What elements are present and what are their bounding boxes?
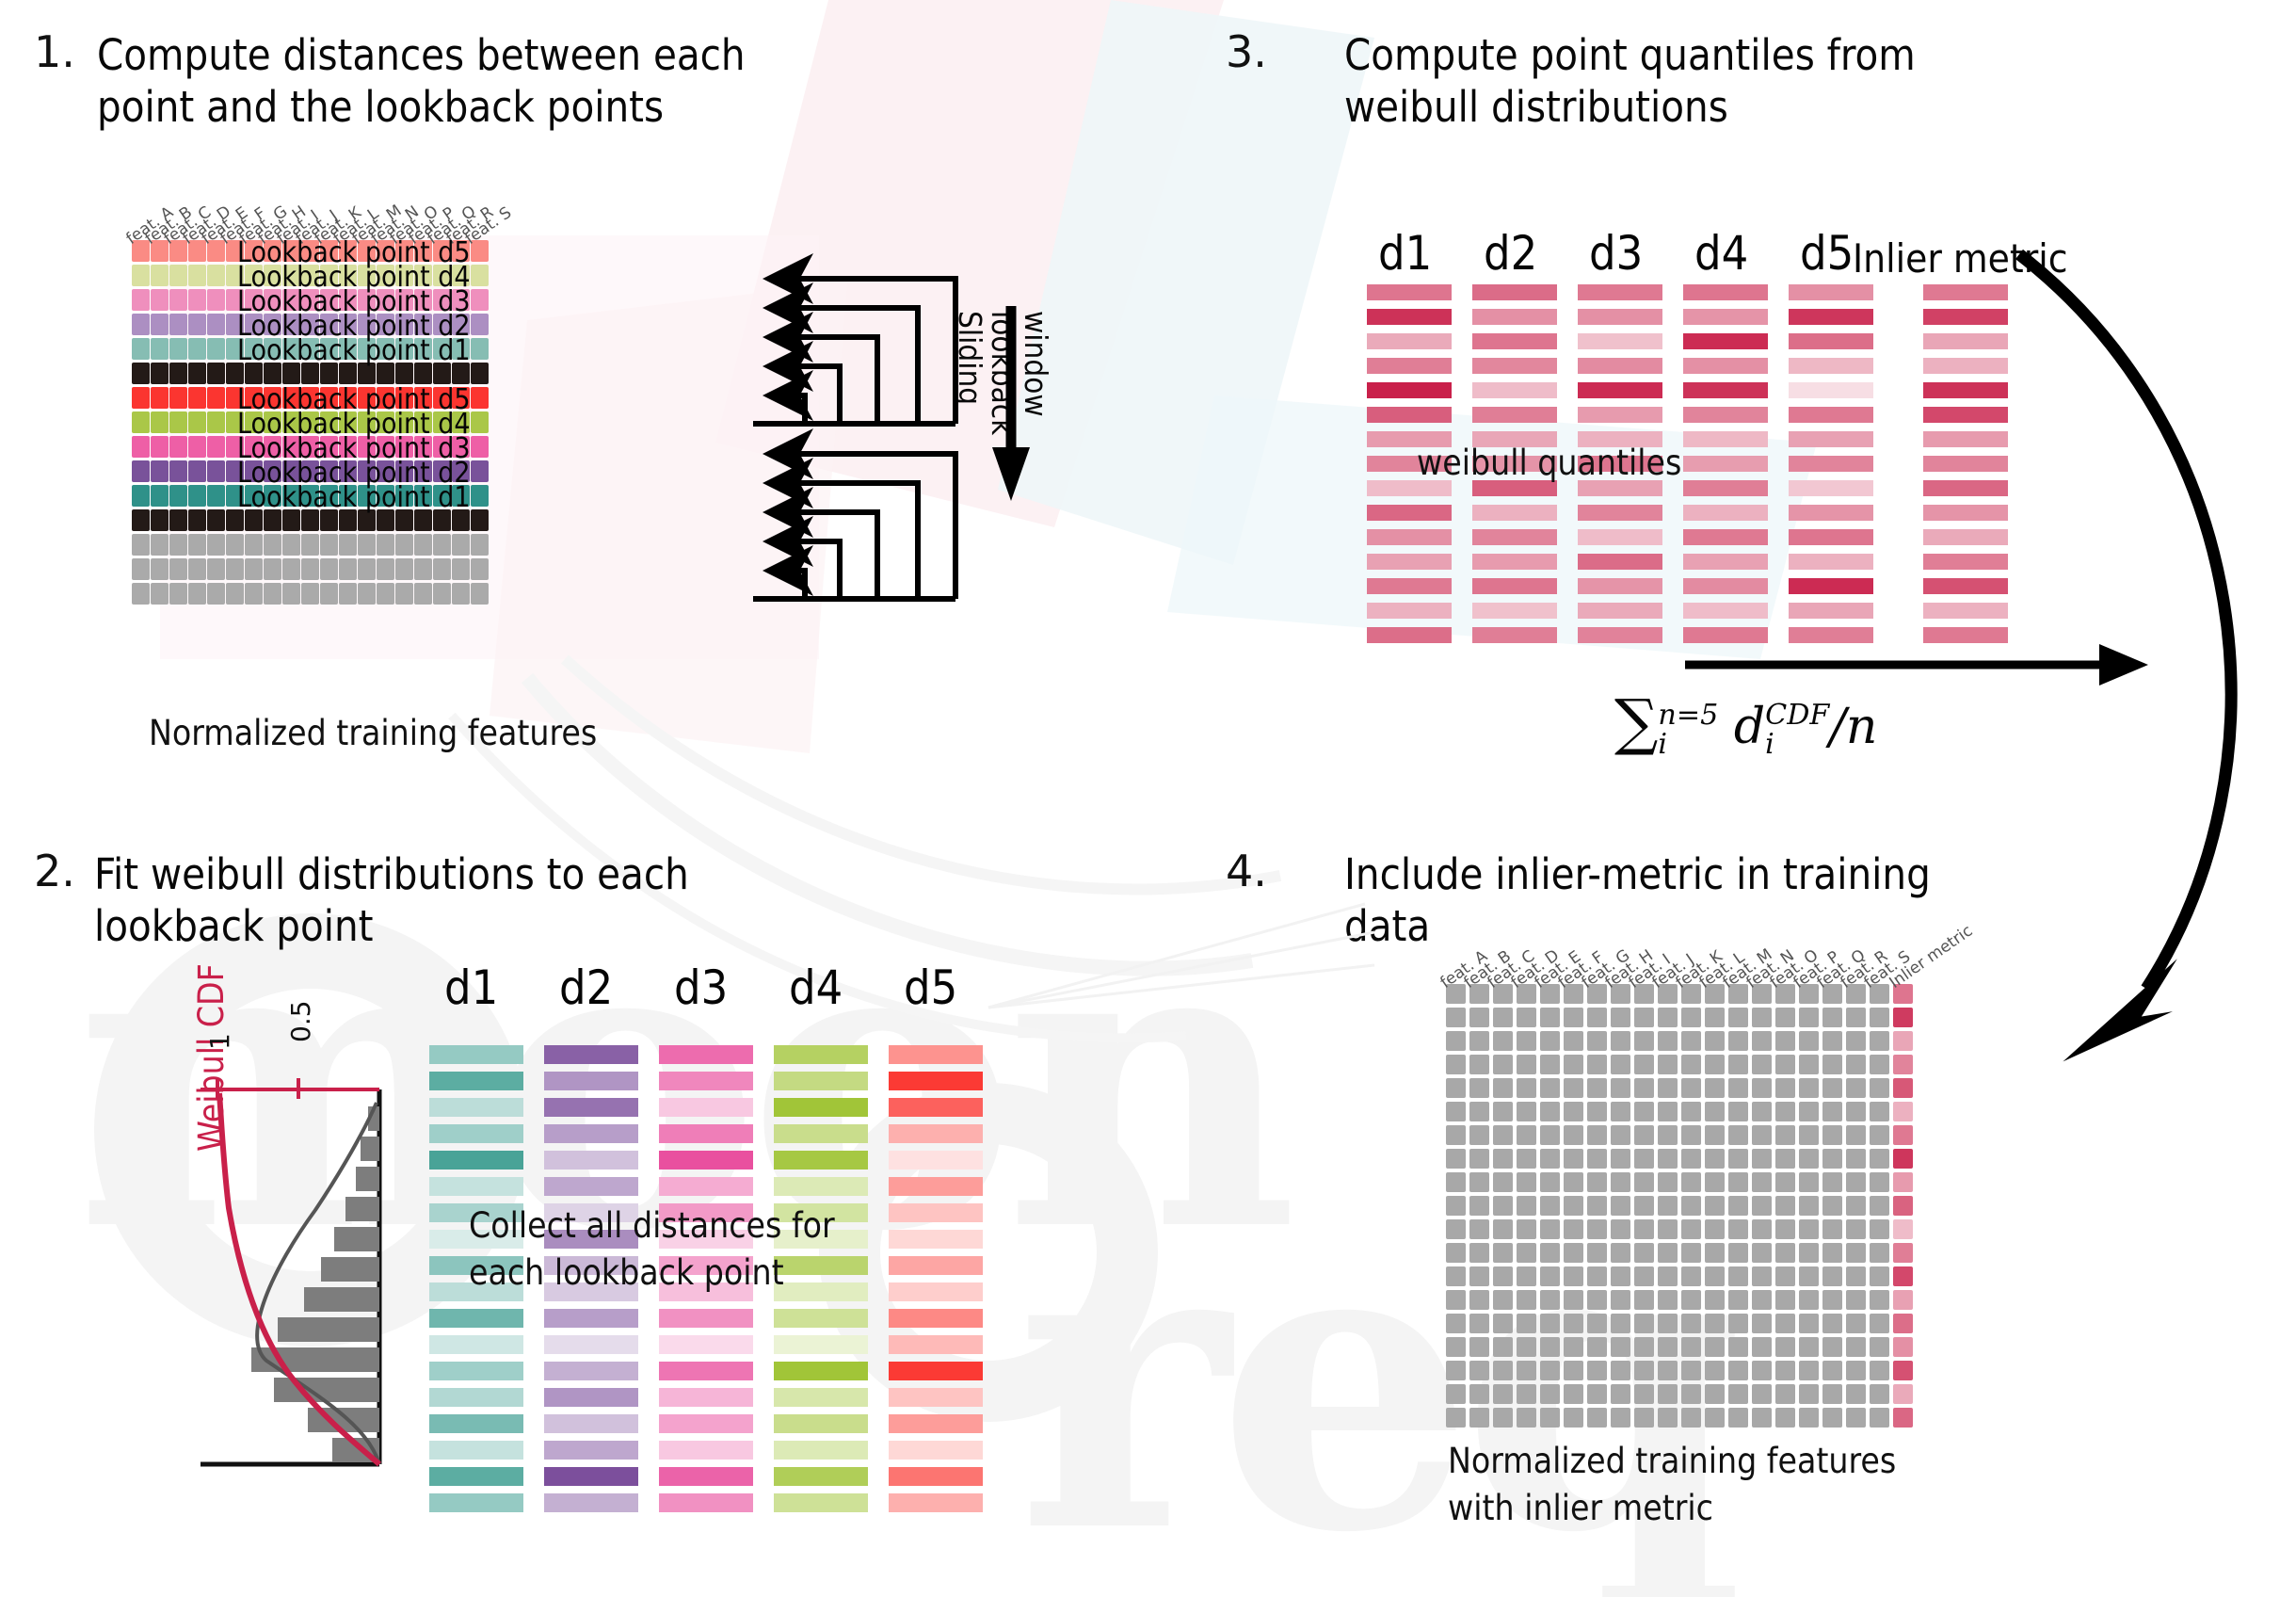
panel3-bar (1683, 627, 1768, 643)
panel3-bar (1789, 505, 1873, 521)
panel4-cell (1846, 1290, 1866, 1310)
panel2-bar (659, 1045, 753, 1064)
panel4-cell (1493, 1408, 1513, 1428)
panel3-column-label-d2: d2 (1484, 226, 1537, 281)
panel4-cell (1517, 1031, 1536, 1051)
panel1-cell (207, 485, 225, 507)
panel4-cell (1705, 1031, 1725, 1051)
panel3-bar (1472, 603, 1557, 619)
panel4-cell (1705, 1361, 1725, 1380)
panel3-bar (1472, 627, 1557, 643)
panel1-cell (320, 534, 338, 556)
panel4-cell (1587, 1031, 1607, 1051)
panel1-cell (264, 558, 281, 580)
panel3-bar (1472, 578, 1557, 594)
panel4-cell (1611, 1078, 1630, 1098)
panel1-cell (226, 534, 244, 556)
panel4-cell (1870, 1102, 1889, 1121)
panel4-cell (1822, 1266, 1842, 1286)
panel4-cell (1658, 1219, 1678, 1239)
panel4-cell (1658, 1125, 1678, 1145)
panel4-cell (1634, 1102, 1654, 1121)
panel2-bar (429, 1467, 523, 1486)
panel4-cell (1728, 1361, 1748, 1380)
panel4-inlier-cell (1893, 1314, 1913, 1333)
panel1-cell (169, 314, 187, 335)
panel3-bar (1578, 578, 1662, 594)
panel4-cell (1870, 1078, 1889, 1098)
panel4-cell (1728, 1266, 1748, 1286)
panel3-inner-caption: weibull quantiles (1417, 441, 1681, 487)
panel2-inner-caption-line1: Collect all distances for (469, 1203, 835, 1250)
panel1-cell (169, 583, 187, 605)
panel4-cell (1493, 1125, 1513, 1145)
panel2-column-label-d3: d3 (674, 960, 728, 1015)
panel4-cell (1775, 1266, 1795, 1286)
panel4-cell (1846, 1149, 1866, 1169)
panel4-cell (1658, 1172, 1678, 1192)
panel1-cell (169, 387, 187, 409)
panel4-cell (1705, 1266, 1725, 1286)
panel1-cell (358, 534, 376, 556)
panel4-cell (1846, 1337, 1866, 1357)
panel2-bar (774, 1335, 868, 1354)
panel4-inlier-cell (1893, 1361, 1913, 1380)
panel2-bar (429, 1441, 523, 1460)
panel1-cell (188, 265, 206, 286)
panel4-cell (1540, 1219, 1560, 1239)
panel4-cell (1493, 1149, 1513, 1169)
panel4-cell (1681, 1196, 1701, 1216)
panel4-cell (1517, 1266, 1536, 1286)
formula-body-sup: CDF (1765, 702, 1829, 730)
panel3-bar (1789, 554, 1873, 570)
panel4-cell (1564, 1149, 1583, 1169)
panel4-cell (1846, 1172, 1866, 1192)
panel1-cell (151, 534, 169, 556)
panel1-cell (207, 314, 225, 335)
panel4-cell (1540, 1243, 1560, 1263)
panel1-cell (377, 558, 394, 580)
panel3-bar (1683, 480, 1768, 496)
panel2-step-number: 2. (34, 846, 75, 896)
panel4-cell (1870, 1125, 1889, 1145)
panel4-cell (1493, 1078, 1513, 1098)
panel4-inlier-cell (1893, 1008, 1913, 1027)
panel2-bar (544, 1414, 638, 1433)
panel2-bar (544, 1045, 638, 1064)
panel4-inlier-cell (1893, 1219, 1913, 1239)
panel4-cell (1446, 1219, 1466, 1239)
panel4-cell (1752, 1196, 1772, 1216)
panel4-matrix: feat. Afeat. Bfeat. Cfeat. Dfeat. Efeat.… (1446, 984, 1913, 1431)
panel4-cell (1799, 1102, 1819, 1121)
panel3-bar (1789, 333, 1873, 349)
panel4-cell (1540, 1361, 1560, 1380)
panel4-cell (1752, 1384, 1772, 1404)
panel2-bar (774, 1493, 868, 1512)
panel4-cell (1564, 1172, 1583, 1192)
panel1-cell (132, 583, 150, 605)
panel2-bar (429, 1151, 523, 1170)
panel4-cell (1658, 1196, 1678, 1216)
panel4-inlier-cell (1893, 1408, 1913, 1428)
panel3-bar (1367, 333, 1452, 349)
panel1-cell (188, 289, 206, 311)
panel4-cell (1540, 1408, 1560, 1428)
panel1-cell (151, 338, 169, 360)
panel4-cell (1446, 1384, 1466, 1404)
panel4-cell (1469, 1314, 1489, 1333)
panel1-cell (188, 387, 206, 409)
panel4-cell (1611, 1266, 1630, 1286)
panel4-cell (1681, 1008, 1701, 1027)
panel4-cell (1658, 1408, 1678, 1428)
panel4-inlier-cell (1893, 1290, 1913, 1310)
panel4-cell (1611, 1408, 1630, 1428)
panel1-cell (188, 485, 206, 507)
panel1-cell (151, 460, 169, 482)
panel1-cell (169, 509, 187, 531)
panel3-bar (1789, 578, 1873, 594)
panel4-cell (1681, 1243, 1701, 1263)
panel1-cell (132, 411, 150, 433)
panel4-cell (1446, 1314, 1466, 1333)
weibull-cdf-curve-label: Weibull CDF (191, 963, 232, 1152)
panel1-cell (132, 387, 150, 409)
panel1-cell (452, 558, 470, 580)
panel3-formula: ∑ n=5 i d CDF i /n (1614, 687, 1877, 759)
panel4-cell (1705, 1243, 1725, 1263)
panel4-cell (1799, 1196, 1819, 1216)
panel1-row-label: Lookback point d1 (237, 334, 471, 367)
panel3-inlier-bar (1923, 456, 2008, 472)
panel4-cell (1658, 1008, 1678, 1027)
panel1-step-number: 1. (34, 26, 75, 77)
panel4-cell (1634, 1243, 1654, 1263)
panel2-bar (659, 1124, 753, 1143)
panel4-cell (1564, 1408, 1583, 1428)
panel4-cell (1681, 1314, 1701, 1333)
formula-divisor: /n (1829, 699, 1877, 755)
panel2-bar (889, 1098, 983, 1117)
panel4-cell (1775, 1125, 1795, 1145)
panel4-cell (1493, 1361, 1513, 1380)
panel3-inlier-bar (1923, 480, 2008, 496)
panel4-cell (1634, 1384, 1654, 1404)
panel3-bar (1683, 603, 1768, 619)
panel4-cell (1658, 1314, 1678, 1333)
panel4-cell (1469, 1055, 1489, 1074)
panel2-bar (774, 1256, 868, 1275)
panel4-cell (1775, 1078, 1795, 1098)
panel4-cell (1728, 1408, 1748, 1428)
panel2-bar (774, 1124, 868, 1143)
panel4-row (1446, 1078, 1913, 1098)
panel1-cell (207, 411, 225, 433)
panel4-row (1446, 1055, 1913, 1074)
panel4-cell (1705, 1008, 1725, 1027)
panel1-cell (452, 534, 470, 556)
panel4-row (1446, 1031, 1913, 1051)
panel4-cell (1587, 1008, 1607, 1027)
panel4-cell (1728, 1102, 1748, 1121)
panel4-cell (1799, 1172, 1819, 1192)
panel3-bar (1683, 529, 1768, 545)
panel1-cell (207, 387, 225, 409)
panel4-cell (1634, 1055, 1654, 1074)
panel2-bar (774, 1309, 868, 1328)
panel4-cell (1728, 1055, 1748, 1074)
panel2-bar (889, 1124, 983, 1143)
panel2-bar (774, 1282, 868, 1301)
panel2-bar (659, 1151, 753, 1170)
panel2-column-label-d5: d5 (904, 960, 957, 1015)
panel4-cell (1469, 1078, 1489, 1098)
panel1-cell (264, 583, 281, 605)
panel1-cell (188, 460, 206, 482)
panel4-cell (1517, 1055, 1536, 1074)
panel4-cell (1752, 1008, 1772, 1027)
panel4-cell (1469, 1102, 1489, 1121)
panel1-cell (339, 534, 357, 556)
panel4-cell (1705, 1172, 1725, 1192)
panel2-bar (774, 1362, 868, 1380)
panel4-cell (1799, 1055, 1819, 1074)
panel4-cell (1658, 1290, 1678, 1310)
panel4-cell (1728, 1008, 1748, 1027)
panel1-cell (169, 558, 187, 580)
panel2-bar (544, 1124, 638, 1143)
panel4-cell (1728, 1031, 1748, 1051)
panel2-bar (889, 1045, 983, 1064)
panel3-bar (1789, 529, 1873, 545)
panel4-cell (1564, 1361, 1583, 1380)
panel1-cell (169, 363, 187, 384)
panel4-cell (1493, 1219, 1513, 1239)
panel4-row (1446, 1219, 1913, 1239)
panel4-grid (1446, 984, 1913, 1428)
panel3-column-label-d1: d1 (1378, 226, 1432, 281)
panel1-cell (226, 558, 244, 580)
panel4-cell (1493, 1290, 1513, 1310)
panel4-cell (1728, 1290, 1748, 1310)
panel4-cell (1846, 1361, 1866, 1380)
panel4-cell (1681, 1384, 1701, 1404)
panel3-bar (1472, 284, 1557, 300)
panel4-cell (1611, 1196, 1630, 1216)
panel4-cell (1799, 1078, 1819, 1098)
panel4-cell (1564, 1125, 1583, 1145)
panel4-cell (1493, 1008, 1513, 1027)
panel3-bar (1472, 358, 1557, 374)
panel1-cell (245, 558, 263, 580)
panel4-cell (1705, 1102, 1725, 1121)
panel4-cell (1705, 1384, 1725, 1404)
panel4-cell (1469, 1290, 1489, 1310)
panel4-row (1446, 1266, 1913, 1286)
panel2-bar (774, 1177, 868, 1196)
panel4-step-number: 4. (1226, 846, 1267, 896)
panel4-cell (1822, 1008, 1842, 1027)
panel2-bar (544, 1441, 638, 1460)
panel2-bar (659, 1335, 753, 1354)
panel4-cell (1681, 1031, 1701, 1051)
panel4-cell (1799, 1243, 1819, 1263)
panel3-bar (1367, 407, 1452, 423)
panel3-inlier-bar (1923, 529, 2008, 545)
panel4-cell (1728, 1314, 1748, 1333)
panel4-cell (1517, 1196, 1536, 1216)
panel1-heading-line1: Compute distances between each (97, 28, 746, 83)
panel1-cell (169, 411, 187, 433)
panel3-bar (1578, 554, 1662, 570)
panel1-cell (188, 363, 206, 384)
panel4-cell (1822, 1384, 1842, 1404)
panel2-bar (429, 1124, 523, 1143)
panel4-cell (1611, 1149, 1630, 1169)
panel1-cell (132, 314, 150, 335)
weibull-tick-label-2: 0.5 (285, 1000, 316, 1042)
panel1-cell (132, 338, 150, 360)
panel4-cell (1705, 1290, 1725, 1310)
panel4-cell (1446, 1078, 1466, 1098)
panel4-cell (1587, 1408, 1607, 1428)
panel4-cell (1775, 1243, 1795, 1263)
panel1-cell (151, 485, 169, 507)
panel1-cell (471, 460, 489, 482)
panel4-cell (1705, 1314, 1725, 1333)
panel4-cell (1469, 1361, 1489, 1380)
panel4-cell (1540, 1266, 1560, 1286)
panel1-cell (207, 460, 225, 482)
panel4-cell (1752, 1314, 1772, 1333)
panel3-bar (1367, 505, 1452, 521)
panel3-bar (1789, 407, 1873, 423)
panel1-cell (471, 289, 489, 311)
panel4-caption-line1: Normalized training features (1448, 1439, 1896, 1485)
panel1-cell (471, 338, 489, 360)
panel4-cell (1705, 1149, 1725, 1169)
panel4-cell (1775, 1408, 1795, 1428)
panel4-cell (1846, 1008, 1866, 1027)
panel4-cell (1681, 1149, 1701, 1169)
panel2-bar (889, 1335, 983, 1354)
panel2-bar (659, 1493, 753, 1512)
panel4-cell (1517, 1384, 1536, 1404)
panel4-cell (1446, 1125, 1466, 1145)
panel1-cell (471, 509, 489, 531)
panel3-bar (1789, 358, 1873, 374)
panel4-cell (1493, 1196, 1513, 1216)
panel4-cell (1752, 1243, 1772, 1263)
panel4-cell (1469, 1337, 1489, 1357)
panel4-cell (1446, 1408, 1466, 1428)
panel4-cell (1681, 1219, 1701, 1239)
panel4-row (1446, 1008, 1913, 1027)
panel4-cell (1846, 1102, 1866, 1121)
panel2-bar (544, 1493, 638, 1512)
panel4-cell (1775, 1172, 1795, 1192)
formula-upper: n=5 (1658, 702, 1718, 730)
panel1-cell (188, 411, 206, 433)
panel4-inlier-cell (1893, 1384, 1913, 1404)
panel1-cell (132, 558, 150, 580)
panel2-bar (659, 1362, 753, 1380)
panel2-bar (429, 1045, 523, 1064)
panel4-cell (1611, 1125, 1630, 1145)
panel4-cell (1752, 1290, 1772, 1310)
panel1-cell (377, 583, 394, 605)
panel2-bar (659, 1309, 753, 1328)
panel4-cell (1870, 1243, 1889, 1263)
panel1-cell (471, 387, 489, 409)
panel4-cell (1705, 1337, 1725, 1357)
panel1-cell (207, 534, 225, 556)
panel4-cell (1634, 1408, 1654, 1428)
panel1-cell (169, 460, 187, 482)
panel4-cell (1822, 1196, 1842, 1216)
panel2-bar (889, 1467, 983, 1486)
panel1-matrix: feat. Afeat. Bfeat. Cfeat. Dfeat. Efeat.… (132, 240, 490, 607)
panel2-bar (544, 1177, 638, 1196)
panel4-cell (1822, 1219, 1842, 1239)
panel4-cell (1611, 1361, 1630, 1380)
panel1-cell (207, 289, 225, 311)
panel1-cell (395, 583, 413, 605)
panel2-bar (889, 1230, 983, 1249)
panel3-bar (1472, 309, 1557, 325)
panel1-cell (132, 534, 150, 556)
panel3-bar (1472, 505, 1557, 521)
panel4-cell (1775, 1149, 1795, 1169)
panel4-row (1446, 1337, 1913, 1357)
panel3-bar (1367, 358, 1452, 374)
panel4-cell (1799, 1337, 1819, 1357)
panel4-cell (1752, 1172, 1772, 1192)
panel3-bar (1578, 333, 1662, 349)
panel4-cell (1658, 1055, 1678, 1074)
panel3-bar (1683, 431, 1768, 447)
panel4-cell (1752, 1219, 1772, 1239)
panel4-cell (1681, 1078, 1701, 1098)
panel4-heading-line2: data (1344, 899, 1430, 954)
panel2-bar (429, 1098, 523, 1117)
panel4-cell (1822, 1078, 1842, 1098)
panel4-cell (1540, 1008, 1560, 1027)
panel1-cell (433, 558, 451, 580)
panel2-bar (889, 1414, 983, 1433)
panel3-inlier-bar (1923, 603, 2008, 619)
panel4-cell (1775, 1196, 1795, 1216)
panel4-cell (1870, 1408, 1889, 1428)
panel1-cell (151, 363, 169, 384)
panel3-bar (1683, 284, 1768, 300)
panel3-bar (1367, 603, 1452, 619)
panel4-cell (1681, 1361, 1701, 1380)
panel4-cell (1469, 1243, 1489, 1263)
panel1-cell (132, 436, 150, 458)
panel4-cell (1446, 1337, 1466, 1357)
panel4-row (1446, 1314, 1913, 1333)
panel4-cell (1540, 1384, 1560, 1404)
panel4-cell (1611, 1172, 1630, 1192)
panel4-cell (1493, 1031, 1513, 1051)
panel4-cell (1799, 1314, 1819, 1333)
formula-lower: i (1658, 731, 1718, 759)
panel1-cell (151, 436, 169, 458)
panel4-cell (1564, 1055, 1583, 1074)
